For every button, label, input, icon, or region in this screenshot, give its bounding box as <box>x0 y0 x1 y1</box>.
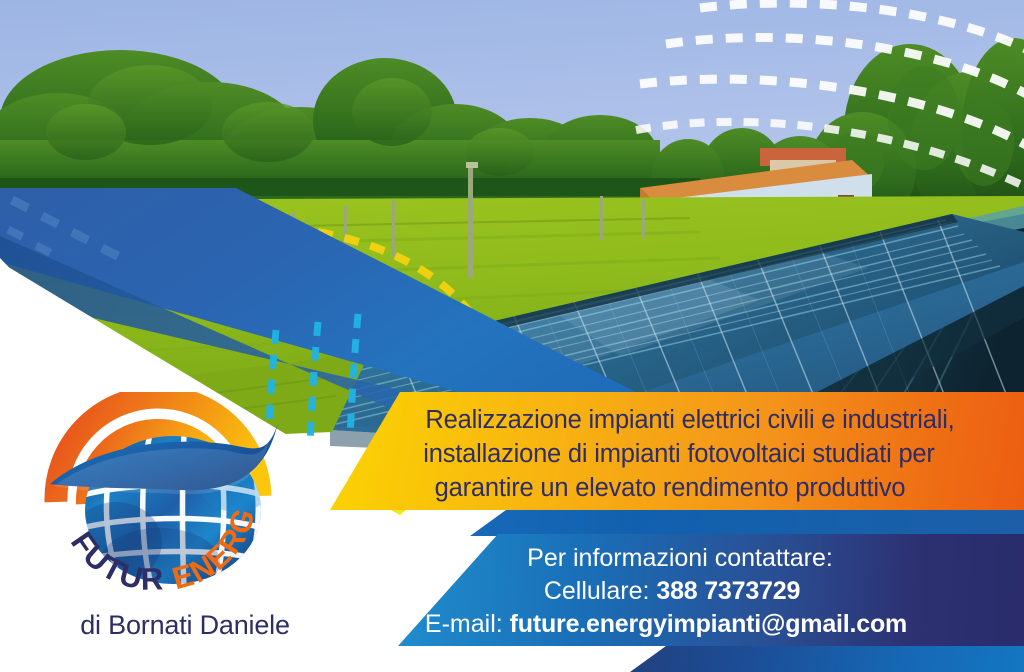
phone-value[interactable]: 388 7373729 <box>656 577 800 605</box>
contact-email-row: E-mail: future.energyimpianti@gmail.com <box>330 608 1024 641</box>
email-value[interactable]: future.energyimpianti@gmail.com <box>510 610 907 638</box>
contact-phone-row: Cellulare: 388 7373729 <box>330 575 1024 608</box>
services-line-1: Realizzazione impianti elettrici civili … <box>330 403 1024 437</box>
contact-heading: Per informazioni contattare: <box>330 542 1024 575</box>
services-banner-text: Realizzazione impianti elettrici civili … <box>330 392 1024 510</box>
services-line-2: installazione di impianti fotovoltaici s… <box>330 437 1024 471</box>
phone-label: Cellulare: <box>544 577 650 605</box>
bottom-accent-bar <box>630 646 1024 672</box>
logo-subtitle: di Bornati Daniele <box>40 612 330 639</box>
services-line-3: garantire un elevato rendimento produtti… <box>330 471 1024 505</box>
email-label: E-mail: <box>425 610 503 638</box>
contact-banner-text: Per informazioni contattare: Cellulare: … <box>330 534 1024 646</box>
company-logo: FUTURE ENERGY <box>40 392 316 610</box>
flyer-canvas: FUTURE ENERGY di Bornati Daniele Realizz… <box>0 0 1024 672</box>
